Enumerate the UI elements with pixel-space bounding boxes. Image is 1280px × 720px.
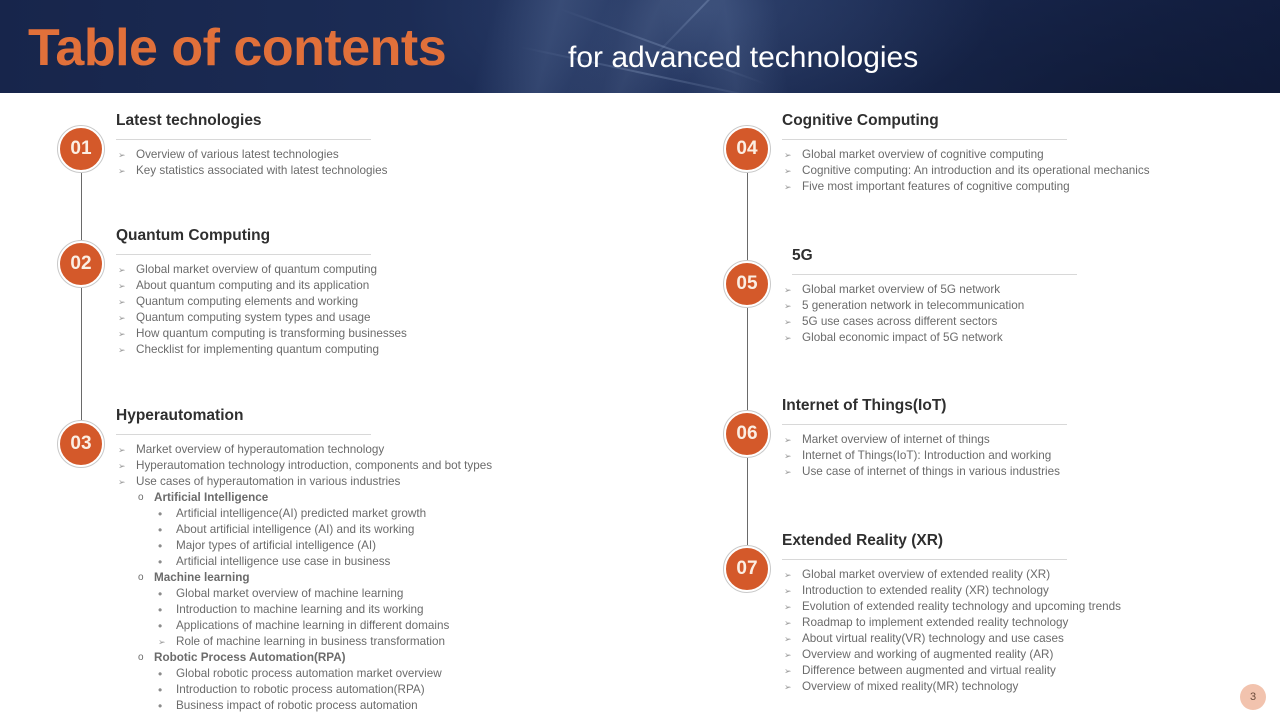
arrow-marker-icon: ➢	[784, 631, 792, 647]
circle-marker-icon: o	[138, 570, 144, 586]
toc-item-level1[interactable]: ➢Quantum computing elements and working	[116, 294, 586, 310]
toc-item-label: Market overview of internet of things	[802, 433, 990, 446]
dot-marker-icon: •	[158, 602, 162, 618]
toc-item-level1[interactable]: ➢Roadmap to implement extended reality t…	[782, 615, 1280, 631]
arrow-marker-icon: ➢	[784, 282, 792, 298]
arrow-marker-icon: ➢	[118, 147, 126, 163]
section-body: Extended Reality (XR)➢Global market over…	[782, 531, 1280, 695]
section-title: Cognitive Computing	[782, 111, 1280, 131]
section-title: 5G	[792, 246, 1280, 266]
arrow-marker-icon: ➢	[118, 163, 126, 179]
toc-item-label: 5 generation network in telecommunicatio…	[802, 299, 1024, 312]
toc-item-level1[interactable]: ➢Global market overview of quantum compu…	[116, 262, 586, 278]
toc-item-label: Key statistics associated with latest te…	[136, 164, 387, 177]
toc-item-label: Global economic impact of 5G network	[802, 331, 1003, 344]
arrow-marker-icon: ➢	[118, 474, 126, 490]
section-title: Extended Reality (XR)	[782, 531, 1280, 551]
dot-marker-icon: •	[158, 506, 162, 522]
dot-marker-icon: •	[158, 554, 162, 570]
toc-item-label: 5G use cases across different sectors	[802, 315, 997, 328]
toc-item-level1[interactable]: ➢How quantum computing is transforming b…	[116, 326, 586, 342]
arrow-marker-icon: ➢	[118, 278, 126, 294]
arrow-marker-icon: ➢	[784, 163, 792, 179]
toc-item-label: Evolution of extended reality technology…	[802, 600, 1121, 613]
arrow-marker-icon: ➢	[784, 179, 792, 195]
section-body: Quantum Computing➢Global market overview…	[116, 226, 586, 358]
section-item-list: ➢Global market overview of extended real…	[782, 567, 1280, 695]
arrow-marker-icon: ➢	[784, 647, 792, 663]
toc-item-label: Artificial intelligence use case in busi…	[176, 555, 390, 568]
arrow-marker-icon: ➢	[784, 432, 792, 448]
toc-item-level1[interactable]: ➢Key statistics associated with latest t…	[116, 163, 586, 179]
toc-item-label: Artificial Intelligence	[154, 491, 268, 504]
toc-item-label: Quantum computing elements and working	[136, 295, 358, 308]
section-title-rule	[782, 559, 1067, 560]
toc-item-label: Global robotic process automation market…	[176, 667, 442, 680]
arrow-marker-icon: ➢	[118, 458, 126, 474]
toc-item-label: Cognitive computing: An introduction and…	[802, 164, 1150, 177]
toc-item-label: Applications of machine learning in diff…	[176, 619, 449, 632]
section-title-rule	[116, 139, 371, 140]
section-item-list: ➢Overview of various latest technologies…	[116, 147, 586, 179]
toc-item-label: Quantum computing system types and usage	[136, 311, 371, 324]
section-body: Hyperautomation➢Market overview of hyper…	[116, 406, 586, 714]
toc-item-label: Internet of Things(IoT): Introduction an…	[802, 449, 1051, 462]
toc-item-level1[interactable]: ➢Overview of various latest technologies	[116, 147, 586, 163]
section-title: Quantum Computing	[116, 226, 586, 246]
toc-item-level1[interactable]: ➢Use case of internet of things in vario…	[782, 464, 1280, 480]
toc-item-level1[interactable]: ➢Hyperautomation technology introduction…	[116, 458, 586, 474]
page-number-badge: 3	[1240, 684, 1266, 710]
toc-item-label: Global market overview of machine learni…	[176, 587, 403, 600]
arrow-marker-icon: ➢	[784, 147, 792, 163]
toc-item-label: Overview of various latest technologies	[136, 148, 339, 161]
toc-item-label: Use case of internet of things in variou…	[802, 465, 1060, 478]
arrow-marker-icon: ➢	[784, 464, 792, 480]
section-number-badge-03[interactable]: 03	[58, 421, 104, 467]
toc-item-level1[interactable]: ➢About quantum computing and its applica…	[116, 278, 586, 294]
toc-item-label: Overview of mixed reality(MR) technology	[802, 680, 1018, 693]
section-title-rule	[116, 434, 371, 435]
toc-item-level3[interactable]: •Major types of artificial intelligence …	[116, 538, 586, 554]
arrow-marker-icon: ➢	[784, 314, 792, 330]
toc-item-level3[interactable]: •Business impact of robotic process auto…	[116, 698, 586, 714]
toc-item-level3[interactable]: •Global market overview of machine learn…	[116, 586, 586, 602]
arrow-marker-icon: ➢	[784, 615, 792, 631]
circle-marker-icon: o	[138, 490, 144, 506]
arrow-marker-icon: ➢	[118, 294, 126, 310]
dot-marker-icon: •	[158, 666, 162, 682]
toc-item-label: Market overview of hyperautomation techn…	[136, 443, 384, 456]
arrow-marker-icon: ➢	[784, 583, 792, 599]
toc-item-label: Artificial intelligence(AI) predicted ma…	[176, 507, 426, 520]
toc-item-level1[interactable]: ➢Checklist for implementing quantum comp…	[116, 342, 586, 358]
arrow-marker-icon: ➢	[118, 326, 126, 342]
section-body: 5G➢Global market overview of 5G network➢…	[782, 246, 1280, 346]
arrow-marker-icon: ➢	[784, 599, 792, 615]
toc-item-level1[interactable]: ➢Market overview of hyperautomation tech…	[116, 442, 586, 458]
toc-item-label: Machine learning	[154, 571, 249, 584]
toc-item-label: Introduction to robotic process automati…	[176, 683, 425, 696]
page-subtitle: for advanced technologies	[568, 38, 918, 78]
arrow-marker-icon: ➢	[784, 663, 792, 679]
toc-item-level1[interactable]: ➢Global market overview of cognitive com…	[782, 147, 1280, 163]
section-body: Cognitive Computing➢Global market overvi…	[782, 111, 1280, 195]
section-title: Internet of Things(IoT)	[782, 396, 1280, 416]
toc-item-label: Global market overview of quantum comput…	[136, 263, 377, 276]
toc-item-level1[interactable]: ➢Global economic impact of 5G network	[782, 330, 1280, 346]
toc-item-level1[interactable]: ➢Overview and working of augmented reali…	[782, 647, 1280, 663]
toc-item-label: Major types of artificial intelligence (…	[176, 539, 376, 552]
toc-item-level1[interactable]: ➢Quantum computing system types and usag…	[116, 310, 586, 326]
dot-marker-icon: •	[158, 698, 162, 714]
section-number-badge-05[interactable]: 05	[724, 261, 770, 307]
timeline-connector-line	[81, 149, 82, 444]
toc-item-level3[interactable]: •Introduction to robotic process automat…	[116, 682, 586, 698]
toc-item-level1[interactable]: ➢Introduction to extended reality (XR) t…	[782, 583, 1280, 599]
toc-item-level1[interactable]: ➢Five most important features of cogniti…	[782, 179, 1280, 195]
dot-marker-icon: •	[158, 586, 162, 602]
dot-marker-icon: •	[158, 522, 162, 538]
page-title: Table of contents	[28, 16, 446, 80]
arrow-marker-icon: ➢	[118, 262, 126, 278]
toc-item-level3[interactable]: •Global robotic process automation marke…	[116, 666, 586, 682]
arrow-marker-icon: ➢	[784, 298, 792, 314]
section-item-list: ➢Global market overview of 5G network➢5 …	[782, 282, 1280, 346]
toc-item-label: Hyperautomation technology introduction,…	[136, 459, 492, 472]
dot-marker-icon: •	[158, 682, 162, 698]
toc-item-level1[interactable]: ➢Global market overview of 5G network	[782, 282, 1280, 298]
toc-item-level1[interactable]: ➢Internet of Things(IoT): Introduction a…	[782, 448, 1280, 464]
toc-item-label: Introduction to machine learning and its…	[176, 603, 424, 616]
timeline-connector-line	[747, 149, 748, 569]
arrow-marker-icon: ➢	[118, 342, 126, 358]
toc-item-label: Use cases of hyperautomation in various …	[136, 475, 400, 488]
toc-item-label: Overview and working of augmented realit…	[802, 648, 1053, 661]
toc-item-label: Global market overview of cognitive comp…	[802, 148, 1044, 161]
toc-item-label: Global market overview of 5G network	[802, 283, 1000, 296]
toc-item-level3[interactable]: •About artificial intelligence (AI) and …	[116, 522, 586, 538]
toc-item-level1[interactable]: ➢Use cases of hyperautomation in various…	[116, 474, 586, 490]
toc-item-label: Roadmap to implement extended reality te…	[802, 616, 1068, 629]
section-body: Internet of Things(IoT)➢Market overview …	[782, 396, 1280, 480]
arrow-marker-icon: ➢	[784, 330, 792, 346]
section-title-rule	[782, 424, 1067, 425]
toc-item-level3[interactable]: ➢Role of machine learning in business tr…	[116, 634, 586, 650]
toc-item-label: Global market overview of extended reali…	[802, 568, 1050, 581]
section-title-rule	[782, 139, 1067, 140]
toc-item-label: About virtual reality(VR) technology and…	[802, 632, 1064, 645]
arrow-marker-icon: ➢	[784, 567, 792, 583]
toc-item-level1[interactable]: ➢About virtual reality(VR) technology an…	[782, 631, 1280, 647]
toc-item-label: Checklist for implementing quantum compu…	[136, 343, 379, 356]
toc-item-label: Robotic Process Automation(RPA)	[154, 651, 346, 664]
section-number-badge-07[interactable]: 07	[724, 546, 770, 592]
section-number-badge-06[interactable]: 06	[724, 411, 770, 457]
section-number-badge-04[interactable]: 04	[724, 126, 770, 172]
toc-item-level3[interactable]: •Introduction to machine learning and it…	[116, 602, 586, 618]
toc-item-label: Five most important features of cognitiv…	[802, 180, 1070, 193]
section-item-list: ➢Global market overview of cognitive com…	[782, 147, 1280, 195]
toc-item-label: Role of machine learning in business tra…	[176, 635, 445, 648]
toc-item-level2[interactable]: oMachine learning	[116, 570, 586, 586]
toc-item-label: Difference between augmented and virtual…	[802, 664, 1056, 677]
section-title-rule	[792, 274, 1077, 275]
circle-marker-icon: o	[138, 650, 144, 666]
arrow-marker-icon: ➢	[784, 679, 792, 695]
section-item-list: ➢Market overview of hyperautomation tech…	[116, 442, 586, 714]
toc-item-level1[interactable]: ➢5G use cases across different sectors	[782, 314, 1280, 330]
section-title: Latest technologies	[116, 111, 586, 131]
arrow-marker-icon: ➢	[118, 442, 126, 458]
toc-item-level3[interactable]: •Artificial intelligence use case in bus…	[116, 554, 586, 570]
toc-item-label: How quantum computing is transforming bu…	[136, 327, 407, 340]
toc-item-label: Introduction to extended reality (XR) te…	[802, 584, 1049, 597]
toc-item-level1[interactable]: ➢Difference between augmented and virtua…	[782, 663, 1280, 679]
toc-item-level1[interactable]: ➢Evolution of extended reality technolog…	[782, 599, 1280, 615]
toc-item-label: About quantum computing and its applicat…	[136, 279, 369, 292]
dot-marker-icon: •	[158, 618, 162, 634]
toc-item-level3[interactable]: •Applications of machine learning in dif…	[116, 618, 586, 634]
section-item-list: ➢Global market overview of quantum compu…	[116, 262, 586, 358]
dot-marker-icon: •	[158, 538, 162, 554]
toc-item-level2[interactable]: oRobotic Process Automation(RPA)	[116, 650, 586, 666]
toc-item-label: About artificial intelligence (AI) and i…	[176, 523, 414, 536]
arrow-marker-icon: ➢	[784, 448, 792, 464]
toc-item-label: Business impact of robotic process autom…	[176, 699, 418, 712]
section-body: Latest technologies➢Overview of various …	[116, 111, 586, 179]
slide-header: Table of contents for advanced technolog…	[0, 0, 1280, 93]
toc-item-level2[interactable]: oArtificial Intelligence	[116, 490, 586, 506]
toc-item-level1[interactable]: ➢Overview of mixed reality(MR) technolog…	[782, 679, 1280, 695]
arrow-marker-icon: ➢	[158, 634, 166, 650]
section-number-badge-02[interactable]: 02	[58, 241, 104, 287]
toc-item-level1[interactable]: ➢5 generation network in telecommunicati…	[782, 298, 1280, 314]
section-title: Hyperautomation	[116, 406, 586, 426]
section-title-rule	[116, 254, 371, 255]
toc-item-level1[interactable]: ➢Global market overview of extended real…	[782, 567, 1280, 583]
section-number-badge-01[interactable]: 01	[58, 126, 104, 172]
arrow-marker-icon: ➢	[118, 310, 126, 326]
toc-item-level1[interactable]: ➢Cognitive computing: An introduction an…	[782, 163, 1280, 179]
section-item-list: ➢Market overview of internet of things➢I…	[782, 432, 1280, 480]
toc-item-level3[interactable]: •Artificial intelligence(AI) predicted m…	[116, 506, 586, 522]
toc-item-level1[interactable]: ➢Market overview of internet of things	[782, 432, 1280, 448]
